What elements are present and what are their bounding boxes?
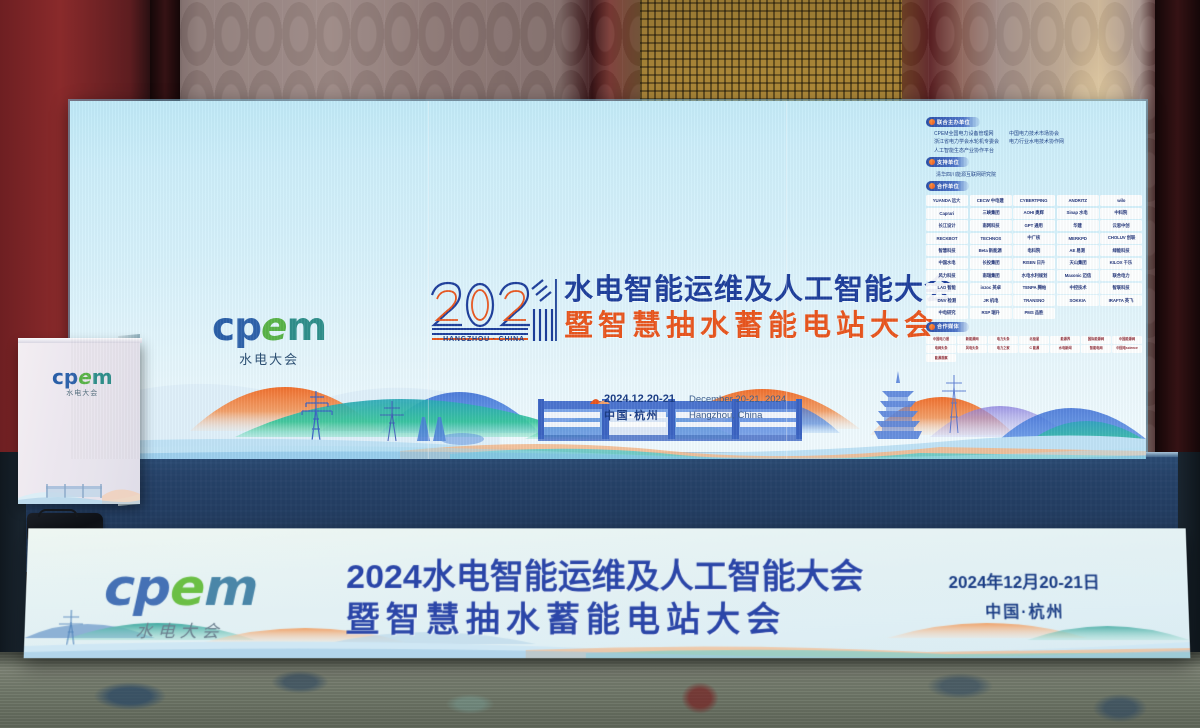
media-logo-grid: 中国电力报新能源网电力头条北极星能源界国际能源网中国能源网电网头条风电头条电力之… bbox=[926, 336, 1142, 362]
partner-logo-cell: 绿能科技 bbox=[1100, 245, 1142, 256]
partner-logo-cell: 电科院 bbox=[1013, 245, 1055, 256]
media-logo-cell: 北极星 bbox=[1019, 336, 1049, 344]
media-logo-cell: 中国电力报 bbox=[926, 336, 956, 344]
media-logo-cell: 中国能源网 bbox=[1112, 336, 1142, 344]
partner-logo-label: AOHI 奥辉 bbox=[1024, 210, 1044, 216]
banner-title-line1: 2024水电智能运维及人工智能大会 bbox=[346, 556, 864, 598]
podium-wordmark: cpem bbox=[52, 367, 113, 387]
partner-logo-label: 三峡集团 bbox=[982, 210, 999, 216]
partner-logo-label: 智联科技 bbox=[1112, 285, 1129, 291]
partner-logo-label: 天山集团 bbox=[1069, 260, 1086, 266]
emblem-location-tag: HANGZHOU · CHINA bbox=[430, 336, 538, 343]
partner-logo-cell: ANDRITZ bbox=[1057, 195, 1099, 206]
banner-title-line2: 暨智慧抽水蓄能电站大会 bbox=[345, 598, 864, 641]
partner-logo-label: 云思中创 bbox=[1112, 223, 1129, 229]
partner-logo-cell: LAD 智能 bbox=[926, 283, 968, 294]
media-logo-cell: C 能源 bbox=[1019, 345, 1049, 353]
partner-logo-cell: RSP 瑞升 bbox=[970, 308, 1012, 319]
cpem-wordmark: cpem bbox=[212, 308, 326, 347]
screen-date-en-group: December 20-21, 2024 Hangzhou, China bbox=[689, 391, 786, 424]
organizer-column-left: CPEM全国电力设备管理网 浙江省电力学会水轮机专委会 人工智能生态产业协作平台 bbox=[934, 131, 999, 154]
partner-logo-cell: wilo bbox=[1100, 195, 1142, 206]
partner-logo-label: 南网科技 bbox=[982, 223, 999, 229]
partner-logo-cell: 长江设计 bbox=[926, 220, 968, 231]
led-backdrop-screen: cpem 水电大会 HANGZHOU · CHINA bbox=[70, 101, 1146, 459]
organizer-item: 浙江省电力学会水轮机专委会 bbox=[934, 139, 999, 146]
partner-logo-label: 华建 bbox=[1073, 223, 1082, 229]
cpem-letter-p: p bbox=[234, 305, 261, 350]
screen-cpem-logo: cpem 水电大会 bbox=[212, 308, 326, 368]
podium-subtitle: 水电大会 bbox=[52, 388, 113, 398]
media-logo-label: 中国能源网 bbox=[1119, 338, 1135, 343]
media-logo-label: 国际能源网 bbox=[1088, 338, 1104, 343]
screen-title-line1: 水电智能运维及人工智能大会 bbox=[564, 273, 954, 307]
tag-bullet-icon bbox=[929, 324, 935, 330]
partner-logo-label: 南瑞集团 bbox=[982, 273, 999, 279]
partner-logo-label: TECHNOS bbox=[980, 236, 1001, 241]
partner-logo-cell bbox=[1057, 308, 1099, 319]
podium-letter-m: m bbox=[92, 365, 113, 389]
partner-logo-cell: Maxonic 迈信 bbox=[1057, 270, 1099, 281]
organizer-columns: CPEM全国电力设备管理网 浙江省电力学会水轮机专委会 人工智能生态产业协作平台… bbox=[926, 129, 1142, 157]
organizer-item: 电力行业水电技术协作网 bbox=[1009, 139, 1064, 146]
partner-logo-cell: inzoc 英卓 bbox=[970, 283, 1012, 294]
podium-dam-illustration bbox=[18, 464, 140, 504]
banner-letter-e: e bbox=[169, 558, 205, 618]
supporter-item: 清华四川能源互联网研究院 bbox=[926, 169, 1142, 181]
media-logo-label: 能源观察 bbox=[934, 356, 947, 361]
partner-logo-cell: 长投集团 bbox=[970, 258, 1012, 269]
partner-logo-cell: 联合电力 bbox=[1100, 270, 1142, 281]
partner-logo-label: ANDRITZ bbox=[1068, 198, 1086, 203]
media-logo-cell: 电网头条 bbox=[926, 345, 956, 353]
banner-title-block: 2024水电智能运维及人工智能大会 暨智慧抽水蓄能电站大会 bbox=[345, 556, 864, 641]
tag-bullet-icon bbox=[929, 183, 935, 189]
media-logo-cell: 新能源网 bbox=[957, 336, 987, 344]
banner-cpem-logo: cpem 水电大会 bbox=[102, 562, 258, 642]
banner-date-block: 2024年12月20-21日 中国·杭州 bbox=[948, 568, 1101, 622]
cpem-subtitle: 水电大会 bbox=[212, 349, 326, 368]
wall-dark-column-right bbox=[1155, 0, 1200, 520]
partner-logo-label: PMS 品胜 bbox=[1025, 310, 1044, 316]
conference-stage-scene: cpem 水电大会 HANGZHOU · CHINA bbox=[0, 0, 1200, 728]
partner-logo-label: 中国水电 bbox=[938, 260, 955, 266]
partner-logo-cell: 中电研究 bbox=[926, 308, 968, 319]
partner-logo-cell: 智慧科技 bbox=[926, 245, 968, 256]
media-logo-cell: 风电头条 bbox=[957, 345, 987, 353]
section-tag-label: 联合主办单位 bbox=[937, 119, 970, 126]
media-logo-cell: 电力头条 bbox=[988, 336, 1018, 344]
partner-logo-label: RSP 瑞升 bbox=[981, 310, 999, 316]
partner-logo-cell: YUANDA 远大 bbox=[926, 195, 968, 206]
screen-title-line2: 暨智慧抽水蓄能电站大会 bbox=[564, 309, 954, 343]
partner-logo-label: 联合电力 bbox=[1112, 273, 1129, 279]
partner-logo-cell: KILOX 千乐 bbox=[1100, 258, 1142, 269]
partner-logo-cell: Beta 新能源 bbox=[970, 245, 1012, 256]
banner-letter-p: p bbox=[133, 558, 171, 618]
banner-date-cn: 2024年12月20-21日 bbox=[948, 568, 1100, 593]
media-logo-cell: 能源界 bbox=[1050, 336, 1080, 344]
media-logo-label: 水电新闻 bbox=[1059, 347, 1072, 352]
media-logo-cell: 智能电网 bbox=[1081, 345, 1111, 353]
partner-logo-label: 中电研究 bbox=[938, 310, 955, 316]
media-logo-label: C 能源 bbox=[1029, 347, 1039, 352]
partner-logo-cell: CYBERTPING bbox=[1013, 195, 1055, 206]
partner-logo-label: Caprari bbox=[940, 211, 955, 216]
partner-logo-cell: 中控技术 bbox=[1057, 283, 1099, 294]
media-logo-label: 中国电力报 bbox=[933, 338, 949, 343]
partner-logo-cell: 天山集团 bbox=[1057, 258, 1099, 269]
bag-handle bbox=[38, 509, 78, 517]
podium-letter-c: c bbox=[52, 365, 64, 389]
sponsor-panel: 联合主办单位 CPEM全国电力设备管理网 浙江省电力学会水轮机专委会 人工智能生… bbox=[926, 117, 1142, 451]
partner-logo-label: 风力科技 bbox=[938, 273, 955, 279]
partner-logo-cell: 中科院 bbox=[1100, 208, 1142, 219]
banner-letter-m: m bbox=[204, 558, 259, 618]
partner-logo-label: MERKPD bbox=[1068, 236, 1086, 241]
media-logo-label: 智能电网 bbox=[1090, 347, 1103, 352]
partner-logo-label: 绿能科技 bbox=[1112, 248, 1129, 254]
partner-logo-cell: AE 易测 bbox=[1057, 245, 1099, 256]
organizer-item: CPEM全国电力设备管理网 bbox=[934, 131, 999, 138]
speaker-podium: cpem 水电大会 bbox=[18, 341, 140, 504]
cpem-letter-c: c bbox=[212, 305, 234, 350]
partner-logo-label: wilo bbox=[1117, 198, 1125, 203]
partner-logo-label: AE 易测 bbox=[1070, 248, 1086, 254]
partner-logo-label: 长投集团 bbox=[982, 260, 999, 266]
organizer-item: 中国电力技术市场协会 bbox=[1009, 131, 1064, 138]
partner-logo-label: KILOX 千乐 bbox=[1110, 260, 1133, 266]
tag-bullet-icon bbox=[929, 119, 935, 125]
screen-title-block: 水电智能运维及人工智能大会 暨智慧抽水蓄能电站大会 bbox=[564, 273, 954, 343]
front-stage-banner: cpem 水电大会 2024水电智能运维及人工智能大会 暨智慧抽水蓄能电站大会 … bbox=[24, 528, 1191, 658]
partner-logo-cell: 中广核 bbox=[1013, 233, 1055, 244]
partner-logo-cell: PMS 品胜 bbox=[1013, 308, 1055, 319]
partner-logo-label: 中广核 bbox=[1028, 235, 1041, 241]
partner-logo-cell: CECW 中电建 bbox=[970, 195, 1012, 206]
partner-logo-cell: 南瑞集团 bbox=[970, 270, 1012, 281]
podium-letter-p: p bbox=[64, 365, 78, 389]
media-logo-label: 能源界 bbox=[1060, 338, 1070, 343]
partner-logo-label: Maxonic 迈信 bbox=[1064, 273, 1090, 279]
media-logo-cell: 电力之家 bbox=[988, 345, 1018, 353]
partner-logo-cell: 风力科技 bbox=[926, 270, 968, 281]
partner-logo-cell: TRANSNO bbox=[1013, 295, 1055, 306]
partner-logo-cell: AOHI 奥辉 bbox=[1013, 208, 1055, 219]
podium-cpem-logo: cpem 水电大会 bbox=[52, 367, 113, 398]
partner-logo-label: TENPA 腾帕 bbox=[1022, 285, 1045, 291]
partner-logo-cell: 云思中创 bbox=[1100, 220, 1142, 231]
banner-brand-subtitle: 水电大会 bbox=[102, 617, 257, 642]
media-logo-label: 电网头条 bbox=[934, 347, 947, 352]
partner-logo-cell: GPT 通用 bbox=[1013, 220, 1055, 231]
partner-logo-cell: 华建 bbox=[1057, 220, 1099, 231]
partner-logo-cell bbox=[1100, 308, 1142, 319]
partner-logo-cell: TECHNOS bbox=[970, 233, 1012, 244]
section-tag-label: 合作单位 bbox=[937, 183, 959, 190]
podium-top-surface bbox=[18, 338, 142, 343]
partner-logo-cell: Caprari bbox=[926, 208, 968, 219]
media-logo-label: 风电头条 bbox=[965, 347, 978, 352]
media-logo-cell: 国际能源网 bbox=[1081, 336, 1111, 344]
partner-logo-label: JR 机电 bbox=[983, 298, 998, 304]
partner-logo-label: GPT 通用 bbox=[1025, 223, 1043, 229]
partner-logo-label: DNV 检测 bbox=[938, 298, 957, 304]
media-logo-cell: 水电新闻 bbox=[1050, 345, 1080, 353]
partner-logo-cell: JR 机电 bbox=[970, 295, 1012, 306]
section-tag-media: 合作媒体 bbox=[926, 322, 969, 332]
section-tag-partners: 合作单位 bbox=[926, 181, 969, 191]
media-logo-cell: 能源观察 bbox=[926, 354, 956, 362]
partner-logo-cell: CHOLUV 创联 bbox=[1100, 233, 1142, 244]
screen-date-en: December 20-21, 2024 bbox=[689, 392, 786, 408]
partner-logo-cell: RECKBOT bbox=[926, 233, 968, 244]
partner-logo-label: 中控技术 bbox=[1069, 285, 1086, 291]
partner-logo-label: IRAFTA 英飞 bbox=[1109, 298, 1134, 304]
partner-logo-cell: RISEN 日升 bbox=[1013, 258, 1055, 269]
partner-logo-label: YUANDA 远大 bbox=[933, 198, 961, 204]
partner-logo-cell: TENPA 腾帕 bbox=[1013, 283, 1055, 294]
partner-logo-label: inzoc 英卓 bbox=[980, 285, 1000, 291]
partner-logo-cell: 智联科技 bbox=[1100, 283, 1142, 294]
partner-logo-label: CYBERTPING bbox=[1020, 198, 1048, 203]
led-panel-seam bbox=[428, 101, 429, 459]
organizer-column-right: 中国电力技术市场协会 电力行业水电技术协作网 bbox=[1009, 131, 1064, 154]
screen-city-en: Hangzhou, China bbox=[689, 408, 786, 424]
partner-logo-label: 水电水利规划 bbox=[1021, 273, 1047, 279]
partner-logo-cell: 南网科技 bbox=[970, 220, 1012, 231]
cpem-letter-m: m bbox=[287, 305, 327, 350]
podium-letter-e: e bbox=[78, 365, 92, 389]
partner-logo-grid: YUANDA 远大CECW 中电建CYBERTPINGANDRITZwiloCa… bbox=[926, 195, 1142, 319]
partner-logo-cell: DNV 检测 bbox=[926, 295, 968, 306]
partner-logo-label: 中科院 bbox=[1115, 210, 1128, 216]
partner-logo-label: 电科院 bbox=[1028, 248, 1041, 254]
partner-logo-label: CECW 中电建 bbox=[977, 198, 1004, 204]
partner-logo-label: Beta 新能源 bbox=[979, 248, 1002, 254]
screen-date-cn: 2024.12.20-21 bbox=[604, 391, 675, 408]
organizer-item: 人工智能生态产业协作平台 bbox=[934, 148, 999, 155]
media-logo-cell: 中国电science bbox=[1112, 345, 1142, 353]
media-logo-label: 电力之家 bbox=[997, 347, 1010, 352]
media-logo-label: 北极星 bbox=[1029, 338, 1039, 343]
partner-logo-label: RECKBOT bbox=[937, 236, 958, 241]
partner-logo-label: CHOLUV 创联 bbox=[1107, 235, 1135, 241]
section-tag-supporter: 支持单位 bbox=[926, 157, 969, 167]
partner-logo-cell: IRAFTA 英飞 bbox=[1100, 295, 1142, 306]
cpem-letter-e: e bbox=[261, 305, 286, 350]
banner-letter-c: c bbox=[103, 558, 135, 618]
media-logo-label: 电力头条 bbox=[997, 338, 1010, 343]
screen-date-block: 2024.12.20-21 中国·杭州 December 20-21, 2024… bbox=[604, 391, 786, 424]
media-logo-label: 中国电science bbox=[1116, 347, 1138, 352]
media-logo-label: 新能源网 bbox=[965, 338, 978, 343]
screen-city-cn: 中国·杭州 bbox=[604, 408, 675, 425]
partner-logo-label: LAD 智能 bbox=[938, 285, 956, 291]
led-panel-seam bbox=[786, 101, 787, 459]
section-tag-organizers: 联合主办单位 bbox=[926, 117, 980, 127]
screen-date-cn-group: 2024.12.20-21 中国·杭州 bbox=[604, 391, 675, 424]
title-divider bbox=[555, 279, 557, 341]
banner-city-cn: 中国·杭州 bbox=[949, 598, 1101, 622]
partner-logo-label: SOKKIA bbox=[1069, 298, 1085, 303]
partner-logo-label: TRANSNO bbox=[1024, 298, 1045, 303]
section-tag-label: 合作媒体 bbox=[937, 323, 959, 330]
section-tag-label: 支持单位 bbox=[937, 159, 959, 166]
partner-logo-cell: 水电水利规划 bbox=[1013, 270, 1055, 281]
partner-logo-cell: Sinap 水电 bbox=[1057, 208, 1099, 219]
banner-wordmark: cpem bbox=[103, 562, 258, 614]
partner-logo-label: 智慧科技 bbox=[938, 248, 955, 254]
partner-logo-label: Sinap 水电 bbox=[1067, 210, 1088, 216]
partner-logo-cell: MERKPD bbox=[1057, 233, 1099, 244]
partner-logo-cell: 三峡集团 bbox=[970, 208, 1012, 219]
partner-logo-label: 长江设计 bbox=[938, 223, 955, 229]
tag-bullet-icon bbox=[929, 159, 935, 165]
partner-logo-cell: 中国水电 bbox=[926, 258, 968, 269]
partner-logo-cell: SOKKIA bbox=[1057, 295, 1099, 306]
partner-logo-label: RISEN 日升 bbox=[1023, 260, 1046, 266]
